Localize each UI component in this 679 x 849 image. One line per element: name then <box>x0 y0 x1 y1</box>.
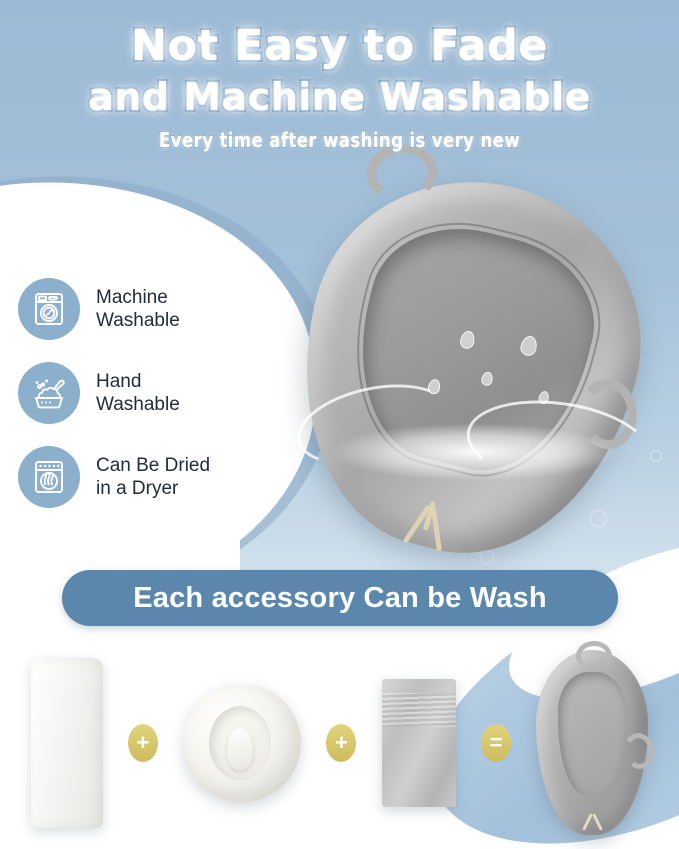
assembled-lounger-shape <box>536 650 648 835</box>
operator-plus-1: + <box>128 724 158 762</box>
accessory-bumper-ring <box>183 684 301 802</box>
dryer-icon <box>18 446 80 508</box>
feature-label-line1: Machine <box>96 287 168 308</box>
hero-product-image <box>286 172 666 572</box>
operator-plus-2: + <box>326 724 356 762</box>
operator-equals: = <box>481 724 511 762</box>
accessory-gray-cover <box>382 679 456 807</box>
title-line-2: and Machine Washable <box>0 74 679 120</box>
operator-symbol: = <box>490 732 503 754</box>
accessory-mattress-pad <box>31 658 103 828</box>
operator-symbol: + <box>136 732 149 754</box>
feature-label: Hand Washable <box>96 370 180 416</box>
accessory-banner: Each accessory Can be Wash <box>62 570 618 626</box>
feature-label-line2: in a Dryer <box>96 478 178 499</box>
washing-machine-icon <box>18 278 80 340</box>
assembled-lounger-bow <box>576 811 610 833</box>
accessory-equation-row: + + = <box>0 636 679 849</box>
feature-label-line2: Washable <box>96 310 180 331</box>
feature-item-hand-washable: Hand Washable <box>18 362 278 424</box>
mattress-pad-shape <box>31 658 103 828</box>
accessory-assembled-lounger <box>536 650 648 835</box>
folded-cover-shape <box>382 679 456 807</box>
header-block: Not Easy to Fade and Machine Washable Ev… <box>0 20 679 152</box>
feature-label-line1: Can Be Dried <box>96 455 210 476</box>
title-line-1: Not Easy to Fade <box>0 20 679 72</box>
feature-label: Can Be Dried in a Dryer <box>96 454 210 500</box>
bumper-ring-knot <box>227 728 253 770</box>
feature-item-dryer: Can Be Dried in a Dryer <box>18 446 278 508</box>
feature-item-machine-washable: Machine Washable <box>18 278 278 340</box>
feature-label-line1: Hand <box>96 371 141 392</box>
feature-list: Machine Washable <box>18 278 278 530</box>
hand-wash-basin-icon <box>18 362 80 424</box>
infographic-canvas: Not Easy to Fade and Machine Washable Ev… <box>0 0 679 849</box>
bumper-ring-shape <box>183 684 301 802</box>
feature-label-line2: Washable <box>96 394 180 415</box>
feature-label: Machine Washable <box>96 286 180 332</box>
assembled-lounger-inner <box>558 672 626 795</box>
accessory-banner-text: Each accessory Can be Wash <box>133 582 547 615</box>
subtitle: Every time after washing is very new <box>20 128 658 152</box>
operator-symbol: + <box>335 732 348 754</box>
